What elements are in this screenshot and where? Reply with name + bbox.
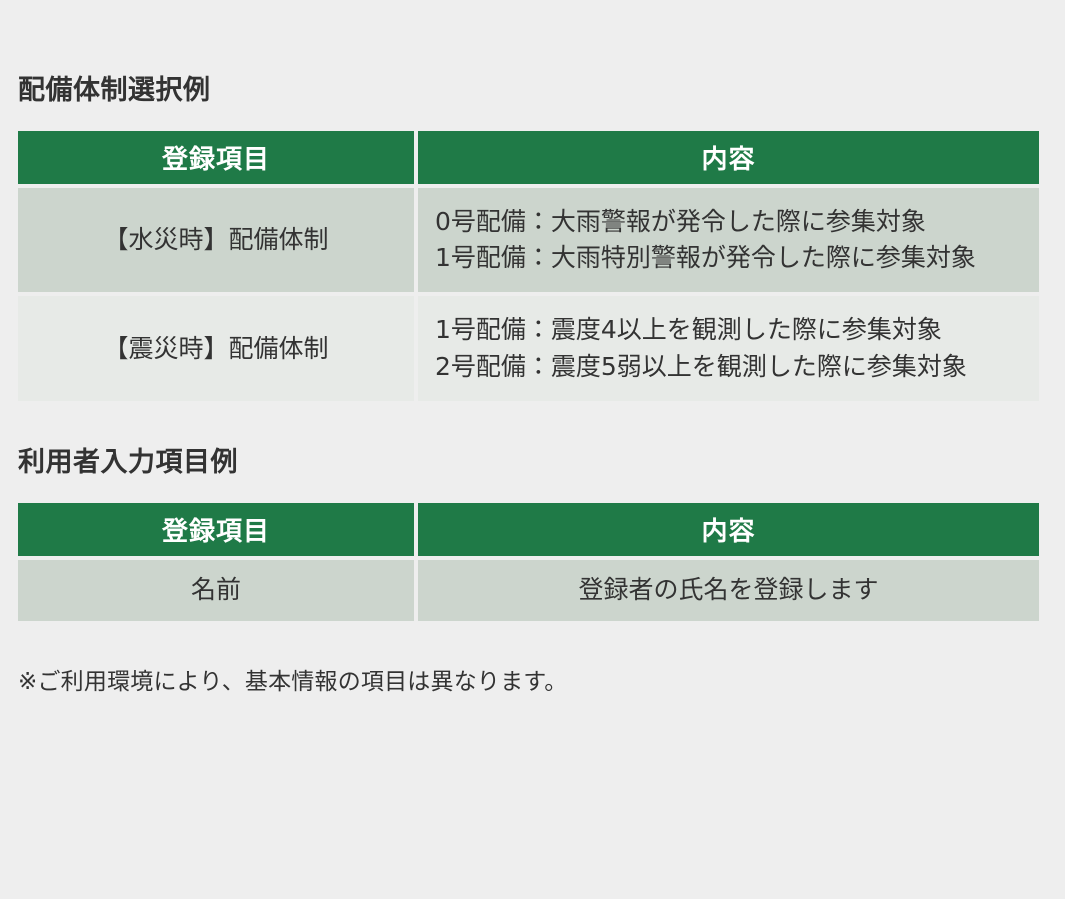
table-row: 名前 登録者の氏名を登録します xyxy=(18,560,1039,621)
table-header: 登録項目 内容 xyxy=(18,503,1039,556)
table-header: 登録項目 内容 xyxy=(18,131,1039,184)
table-row: 【震災時】配備体制 1号配備：震度4以上を観測した際に参集対象 2号配備：震度5… xyxy=(18,296,1039,401)
column-header-item: 登録項目 xyxy=(18,503,414,556)
content-line: 1号配備：大雨特別警報が発令した際に参集対象 xyxy=(435,240,1023,276)
document-page: 配備体制選択例 登録項目 内容 【水災時】配備体制 0号配備：大雨警報が発令した… xyxy=(0,22,1065,899)
column-header-item: 登録項目 xyxy=(18,131,414,184)
column-header-content: 内容 xyxy=(418,131,1039,184)
table-body: 名前 登録者の氏名を登録します xyxy=(18,560,1039,621)
section-title-riyousha: 利用者入力項目例 xyxy=(18,427,1047,476)
table-row: 【水災時】配備体制 0号配備：大雨警報が発令した際に参集対象 1号配備：大雨特別… xyxy=(18,188,1039,293)
table-header-row: 登録項目 内容 xyxy=(18,131,1039,184)
content-line: 1号配備：震度4以上を観測した際に参集対象 xyxy=(435,312,1023,348)
content-line: 2号配備：震度5弱以上を観測した際に参集対象 xyxy=(435,349,1023,385)
table-header-row: 登録項目 内容 xyxy=(18,503,1039,556)
table-body: 【水災時】配備体制 0号配備：大雨警報が発令した際に参集対象 1号配備：大雨特別… xyxy=(18,188,1039,401)
footnote-text: ※ご利用環境により、基本情報の項目は異なります。 xyxy=(18,648,1047,698)
row-label-namae: 名前 xyxy=(18,560,414,621)
riyousha-nyuuryoku-table: 登録項目 内容 名前 登録者の氏名を登録します xyxy=(14,499,1043,625)
row-label-shinsai: 【震災時】配備体制 xyxy=(18,296,414,401)
row-content-suisai: 0号配備：大雨警報が発令した際に参集対象 1号配備：大雨特別警報が発令した際に参… xyxy=(418,188,1039,293)
row-content-shinsai: 1号配備：震度4以上を観測した際に参集対象 2号配備：震度5弱以上を観測した際に… xyxy=(418,296,1039,401)
row-label-suisai: 【水災時】配備体制 xyxy=(18,188,414,293)
haibi-taisei-table: 登録項目 内容 【水災時】配備体制 0号配備：大雨警報が発令した際に参集対象 1… xyxy=(14,127,1043,405)
content-line: 0号配備：大雨警報が発令した際に参集対象 xyxy=(435,204,1023,240)
row-content-namae: 登録者の氏名を登録します xyxy=(418,560,1039,621)
column-header-content: 内容 xyxy=(418,503,1039,556)
section-title-haibi: 配備体制選択例 xyxy=(18,22,1047,104)
